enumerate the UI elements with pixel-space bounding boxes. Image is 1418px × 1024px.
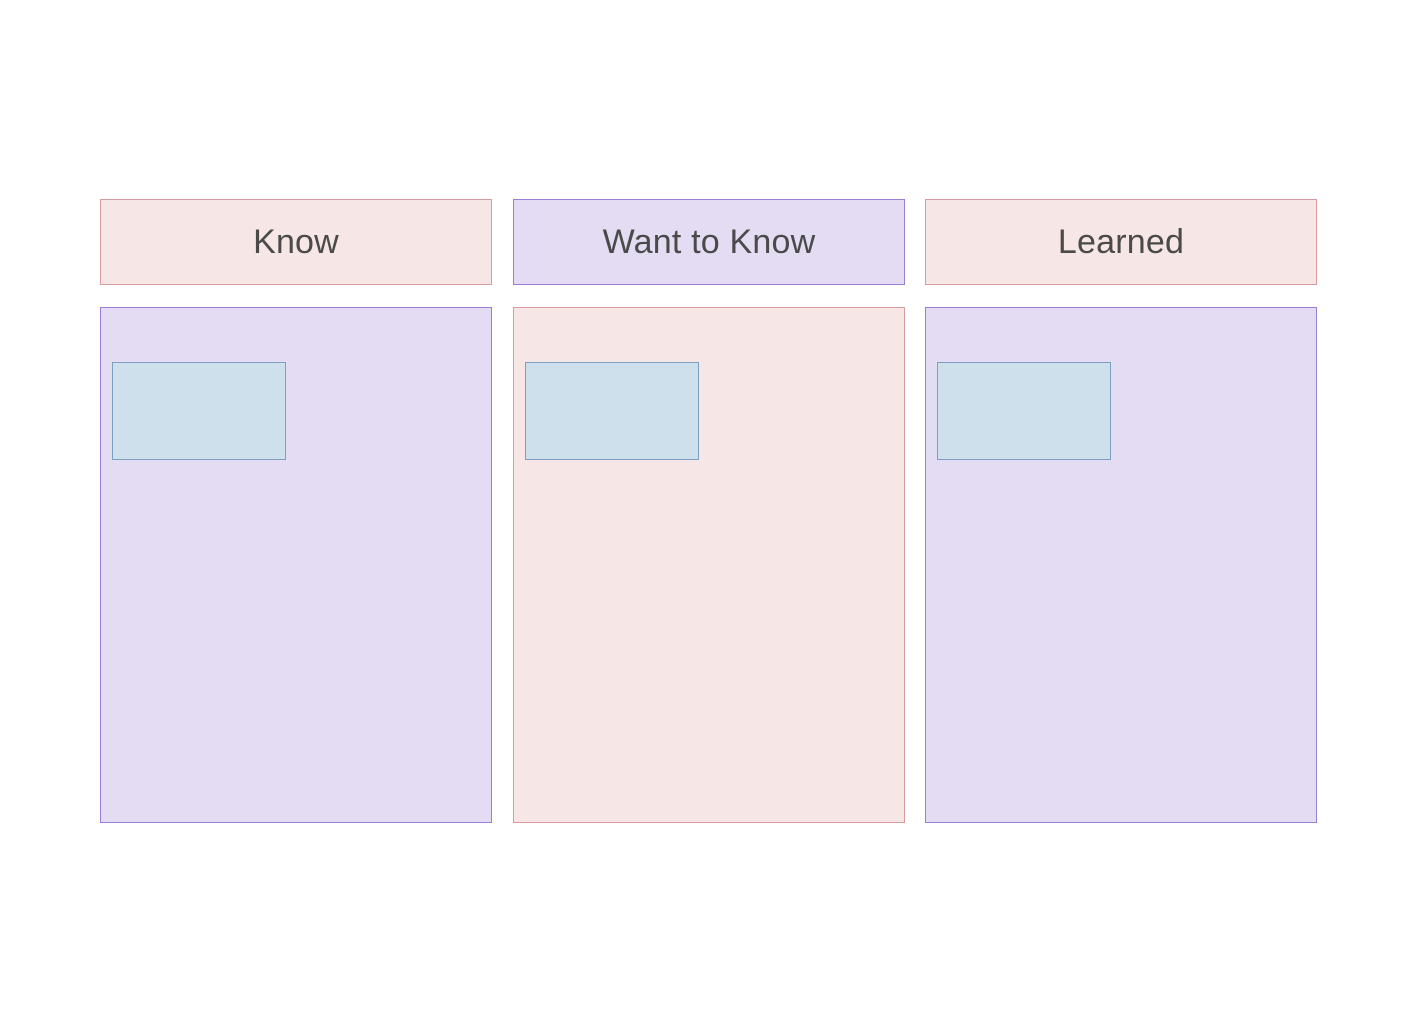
column-header-label: Know bbox=[253, 225, 339, 259]
column-header-label: Learned bbox=[1058, 225, 1184, 259]
column-body-want-to-know[interactable] bbox=[513, 307, 905, 823]
column-header-know[interactable]: Know bbox=[100, 199, 492, 285]
kwl-column-know: Know bbox=[100, 199, 492, 285]
note-card-text[interactable] bbox=[526, 363, 698, 379]
note-card[interactable] bbox=[525, 362, 699, 460]
column-header-learned[interactable]: Learned bbox=[925, 199, 1317, 285]
kwl-board: Know Want to Know Learned bbox=[0, 0, 1418, 1024]
column-header-label: Want to Know bbox=[603, 225, 816, 259]
column-body-learned[interactable] bbox=[925, 307, 1317, 823]
kwl-column-want-to-know: Want to Know bbox=[513, 199, 905, 285]
column-body-know[interactable] bbox=[100, 307, 492, 823]
column-header-want-to-know[interactable]: Want to Know bbox=[513, 199, 905, 285]
note-card[interactable] bbox=[112, 362, 286, 460]
note-card[interactable] bbox=[937, 362, 1111, 460]
note-card-text[interactable] bbox=[938, 363, 1110, 379]
note-card-text[interactable] bbox=[113, 363, 285, 379]
kwl-column-learned: Learned bbox=[925, 199, 1317, 285]
